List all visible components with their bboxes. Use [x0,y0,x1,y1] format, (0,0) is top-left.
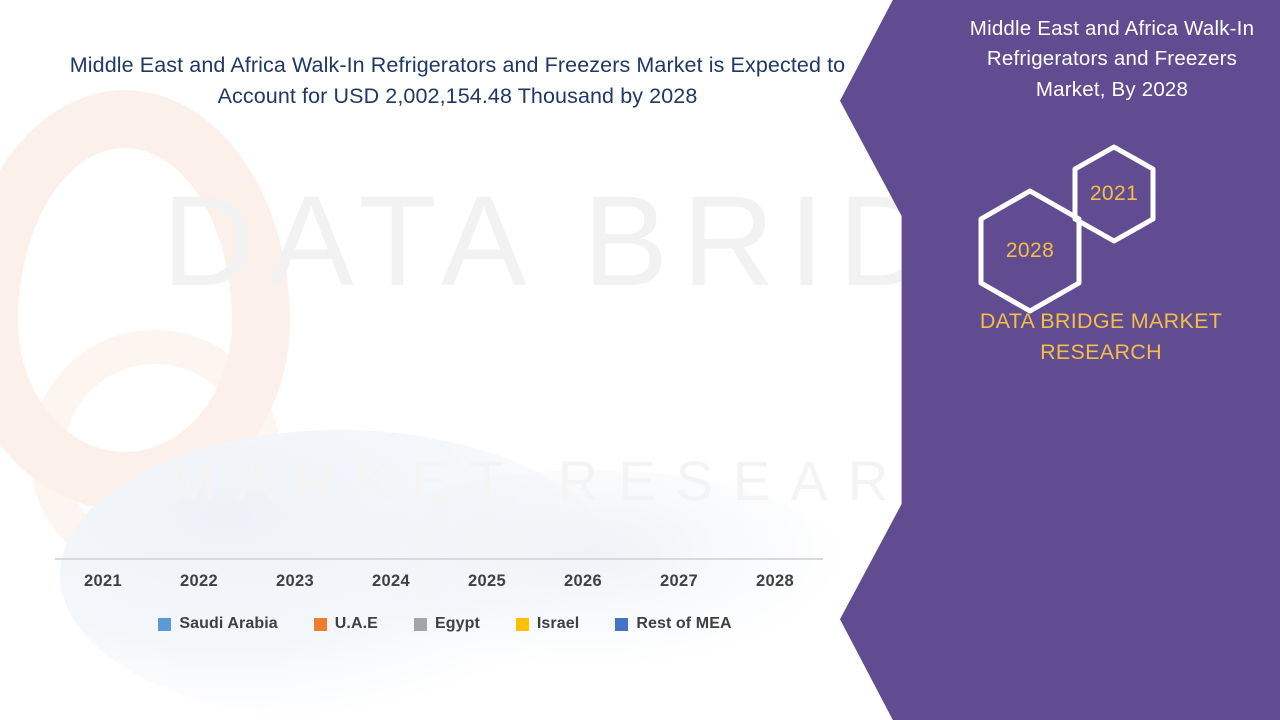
bar-column-2024 [343,153,439,558]
infographic-canvas: DATA BRIDGE MARKET RESEARCH Middle East … [0,0,1280,720]
legend-swatch-icon [314,618,327,631]
x-axis-label-2025: 2025 [439,572,535,591]
x-axis-label-2024: 2024 [343,572,439,591]
legend-item-egypt[interactable]: Egypt [414,615,480,633]
legend-item-u-a-e[interactable]: U.A.E [314,615,378,633]
brand-name: DATA BRIDGE MARKET RESEARCH [936,306,1266,367]
legend-label: Rest of MEA [636,615,731,633]
bar-column-2028 [727,153,823,558]
brand-panel-content: Middle East and Africa Walk-In Refrigera… [840,0,1280,720]
legend-item-israel[interactable]: Israel [516,615,579,633]
bar-column-2022 [151,153,247,558]
bar-group [55,153,823,558]
panel-title: Middle East and Africa Walk-In Refrigera… [962,14,1262,105]
hexagon-2028-label: 2028 [972,186,1088,316]
bar-column-2023 [247,153,343,558]
x-axis-line [55,558,823,560]
chart-title: Middle East and Africa Walk-In Refrigera… [60,50,855,112]
bar-column-2026 [535,153,631,558]
legend-swatch-icon [414,618,427,631]
legend-swatch-icon [158,618,171,631]
x-axis-label-2023: 2023 [247,572,343,591]
chart-legend: Saudi ArabiaU.A.EEgyptIsraelRest of MEA [55,615,835,633]
hexagon-2028: 2028 [972,186,1088,316]
x-axis-label-2026: 2026 [535,572,631,591]
legend-label: Saudi Arabia [179,615,277,633]
x-axis-label-2021: 2021 [55,572,151,591]
legend-item-saudi-arabia[interactable]: Saudi Arabia [158,615,277,633]
bar-column-2025 [439,153,535,558]
legend-label: U.A.E [335,615,378,633]
legend-label: Israel [537,615,579,633]
x-axis-label-2022: 2022 [151,572,247,591]
hexagon-group: 2021 2028 [950,138,1270,298]
legend-swatch-icon [516,618,529,631]
bar-column-2021 [55,153,151,558]
x-axis-label-2027: 2027 [631,572,727,591]
chart-plot-area [55,150,825,560]
bar-column-2027 [631,153,727,558]
legend-label: Egypt [435,615,480,633]
legend-swatch-icon [615,618,628,631]
x-axis-label-2028: 2028 [727,572,823,591]
legend-item-rest-of-mea[interactable]: Rest of MEA [615,615,731,633]
x-axis-labels: 20212022202320242025202620272028 [55,572,823,591]
